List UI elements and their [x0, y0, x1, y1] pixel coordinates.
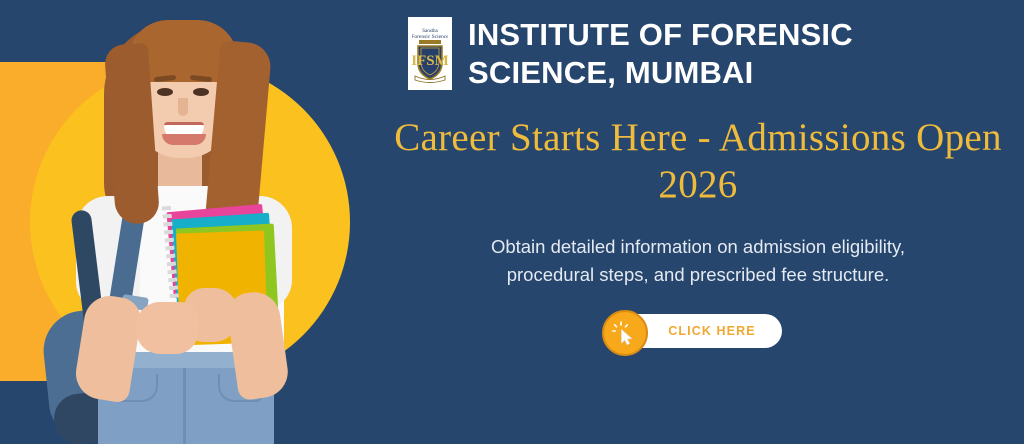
- institute-name-line1: INSTITUTE OF FORENSIC: [468, 16, 853, 54]
- eye-right: [193, 88, 209, 96]
- headline: Career Starts Here - Admissions Open 202…: [382, 114, 1014, 209]
- institute-crest-logo-icon: Sanstha Forensic Science IFSM: [408, 17, 452, 90]
- institute-name-line2: SCIENCE, MUMBAI: [468, 54, 853, 92]
- student-with-books-photo: [18, 0, 338, 444]
- cta-container: CLICK HERE: [372, 314, 1024, 348]
- subtext: Obtain detailed information on admission…: [453, 233, 943, 290]
- admissions-banner: Sanstha Forensic Science IFSM INSTITUTE …: [0, 0, 1024, 444]
- svg-text:Forensic Science: Forensic Science: [412, 34, 448, 40]
- lower-lip: [162, 134, 206, 145]
- click-here-button[interactable]: CLICK HERE: [614, 314, 781, 348]
- nose: [178, 98, 188, 116]
- jeans-seam: [183, 368, 186, 444]
- eye-left: [157, 88, 173, 96]
- click-here-label: CLICK HERE: [668, 324, 755, 338]
- banner-content: Sanstha Forensic Science IFSM INSTITUTE …: [372, 0, 1024, 444]
- svg-text:IFSM: IFSM: [412, 53, 448, 69]
- click-cursor-icon: [602, 310, 648, 356]
- brand-header: Sanstha Forensic Science IFSM INSTITUTE …: [372, 0, 1024, 92]
- institute-name: INSTITUTE OF FORENSIC SCIENCE, MUMBAI: [468, 16, 853, 92]
- hand-left: [136, 302, 198, 354]
